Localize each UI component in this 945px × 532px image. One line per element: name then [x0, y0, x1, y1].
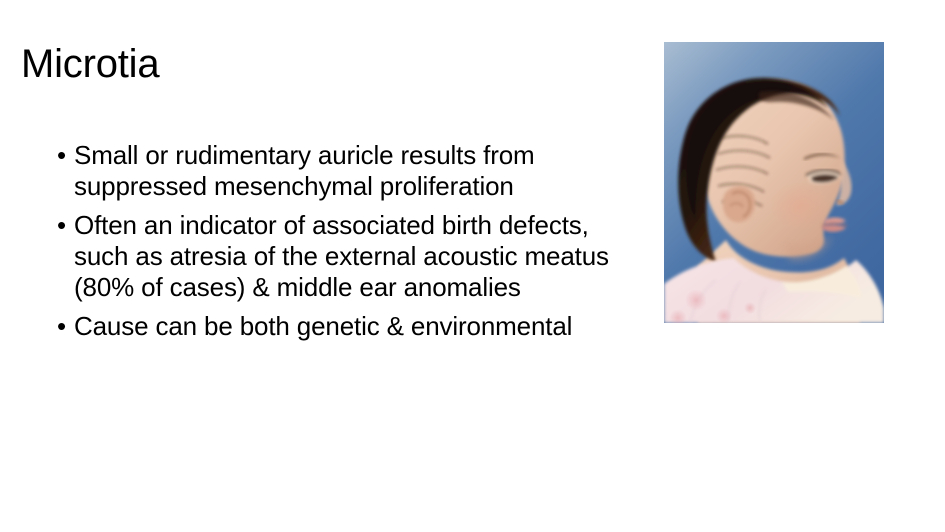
list-item-label: Often an indicator of associated birth d…: [74, 210, 647, 303]
bullet-point-icon: •: [57, 311, 74, 342]
list-item: • Cause can be both genetic & environmen…: [57, 311, 647, 342]
bullet-point-icon: •: [57, 140, 74, 171]
list-item-label: Small or rudimentary auricle results fro…: [74, 140, 647, 202]
page-title: Microtia: [21, 40, 159, 88]
infant-profile-illustration: [664, 42, 884, 323]
list-item: • Often an indicator of associated birth…: [57, 210, 647, 303]
infant-profile-microtia-photo: [664, 42, 884, 323]
bullet-point-icon: •: [57, 210, 74, 241]
bullet-list: • Small or rudimentary auricle results f…: [57, 140, 647, 342]
list-item-label: Cause can be both genetic & environmenta…: [74, 311, 647, 342]
list-item: • Small or rudimentary auricle results f…: [57, 140, 647, 202]
slide-canvas: Microtia • Small or rudimentary auricle …: [0, 0, 945, 532]
